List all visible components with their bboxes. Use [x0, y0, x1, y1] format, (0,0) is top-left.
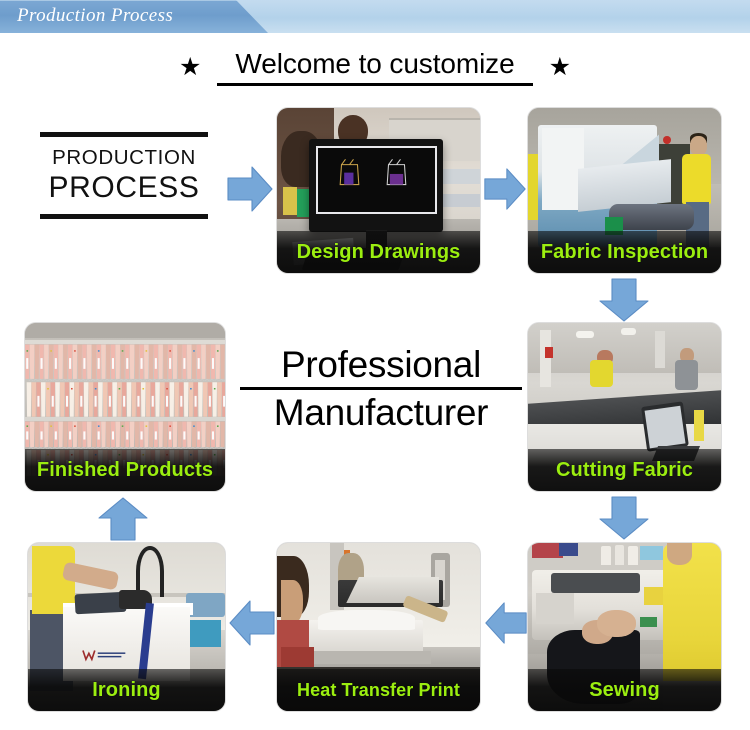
caption-fabric-inspection: Fabric Inspection — [541, 241, 708, 264]
caption-bar-sewing: Sewing — [528, 669, 721, 711]
caption-bar-cutting-fabric: Cutting Fabric — [528, 449, 721, 491]
arrow-up-icon — [96, 496, 150, 542]
arrow-left-to-heat-transfer-print — [484, 598, 528, 648]
center-slogan: Professional Manufacturer — [240, 344, 522, 434]
arrow-left-icon — [484, 598, 528, 648]
caption-bar-design-drawings: Design Drawings — [277, 231, 480, 273]
wordmark-rule-bottom — [40, 214, 208, 219]
arrow-down-icon — [597, 277, 651, 323]
step-panel-cutting-fabric[interactable]: Cutting Fabric — [528, 323, 721, 491]
wordmark-line-production: PRODUCTION — [40, 137, 208, 171]
slogan-line-manufacturer: Manufacturer — [240, 390, 522, 434]
caption-sewing: Sewing — [589, 679, 660, 702]
step-panel-fabric-inspection[interactable]: Fabric Inspection — [528, 108, 721, 273]
step-panel-heat-transfer-print[interactable]: Heat Transfer Print — [277, 543, 480, 711]
welcome-text: Welcome to customize — [217, 48, 532, 86]
caption-bar-ironing: Ironing — [28, 669, 225, 711]
star-icon-right: ★ — [549, 55, 571, 80]
slogan-line-professional: Professional — [240, 344, 522, 390]
arrow-up-to-finished-products — [96, 496, 150, 542]
garment-rack-upper — [25, 343, 225, 419]
step-panel-finished-products[interactable]: Finished Products — [25, 323, 225, 491]
arrow-right-to-design-drawings — [226, 164, 274, 214]
step-panel-design-drawings[interactable]: Design Drawings — [277, 108, 480, 273]
page-header-banner: Production Process — [0, 0, 750, 33]
arrow-down-to-sewing — [597, 495, 651, 541]
arrow-right-icon — [226, 164, 274, 214]
step-panel-sewing[interactable]: Sewing — [528, 543, 721, 711]
garment-sketch-icon-2 — [379, 158, 414, 198]
header-tab-title: Production Process — [17, 5, 173, 27]
arrow-left-icon — [228, 598, 276, 648]
caption-bar-heat-transfer-print: Heat Transfer Print — [277, 669, 480, 711]
caption-heat-transfer-print: Heat Transfer Print — [297, 680, 460, 701]
wordmark-line-process: PROCESS — [40, 171, 208, 214]
arrow-right-icon — [483, 164, 527, 214]
arrow-down-icon — [597, 495, 651, 541]
garment-sketch-icon-1 — [332, 158, 367, 198]
caption-ironing: Ironing — [92, 679, 160, 702]
production-process-wordmark: PRODUCTION PROCESS — [40, 132, 208, 219]
step-panel-ironing[interactable]: Ironing — [28, 543, 225, 711]
caption-bar-fabric-inspection: Fabric Inspection — [528, 231, 721, 273]
caption-cutting-fabric: Cutting Fabric — [556, 459, 693, 482]
arrow-right-to-fabric-inspection — [483, 164, 527, 214]
caption-finished-products: Finished Products — [37, 459, 213, 482]
caption-bar-finished-products: Finished Products — [25, 449, 225, 491]
welcome-banner: ★ Welcome to customize ★ — [0, 46, 750, 88]
caption-design-drawings: Design Drawings — [297, 241, 461, 264]
arrow-down-to-cutting-fabric — [597, 277, 651, 323]
star-icon-left: ★ — [179, 55, 201, 80]
arrow-left-to-ironing — [228, 598, 276, 648]
table-logo-icon — [81, 647, 140, 664]
